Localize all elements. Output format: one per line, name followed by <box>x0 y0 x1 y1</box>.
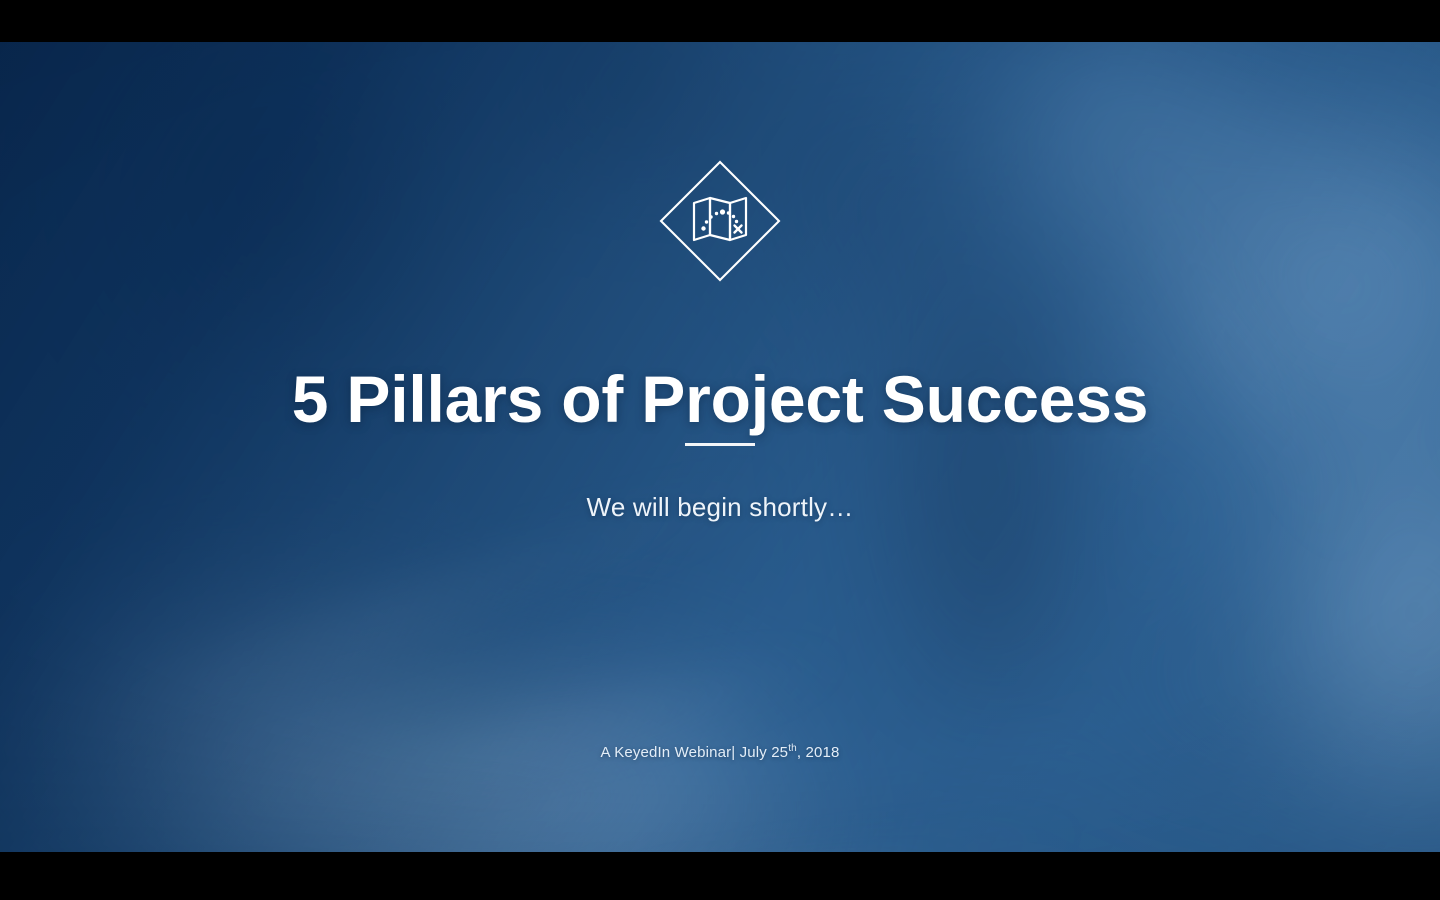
map-panel-middle <box>710 198 730 240</box>
letterbox-bar-bottom <box>0 852 1440 900</box>
slide-footer: A KeyedIn Webinar| July 25th, 2018 <box>0 744 1440 761</box>
map-panel-right <box>730 198 746 240</box>
footer-date-prefix: July 25 <box>735 744 788 761</box>
map-route-dots <box>701 209 738 230</box>
letterbox-bar-top <box>0 0 1440 42</box>
map-panel-left <box>694 198 710 240</box>
brand-emblem <box>0 159 1440 283</box>
footer-presenter: A KeyedIn Webinar <box>601 744 732 761</box>
map-x-marker-icon <box>735 226 742 233</box>
presentation-slide: 5 Pillars of Project Success We will beg… <box>0 0 1440 900</box>
title-divider <box>685 443 755 446</box>
slide-subtitle: We will begin shortly… <box>0 492 1440 523</box>
footer-date-suffix: , 2018 <box>797 744 840 761</box>
slide-content: 5 Pillars of Project Success We will beg… <box>0 0 1440 900</box>
folded-map-with-route-icon <box>658 159 782 283</box>
page-title: 5 Pillars of Project Success <box>0 364 1440 435</box>
footer-date-ordinal: th <box>788 743 797 754</box>
diamond-outline-icon <box>661 162 779 280</box>
